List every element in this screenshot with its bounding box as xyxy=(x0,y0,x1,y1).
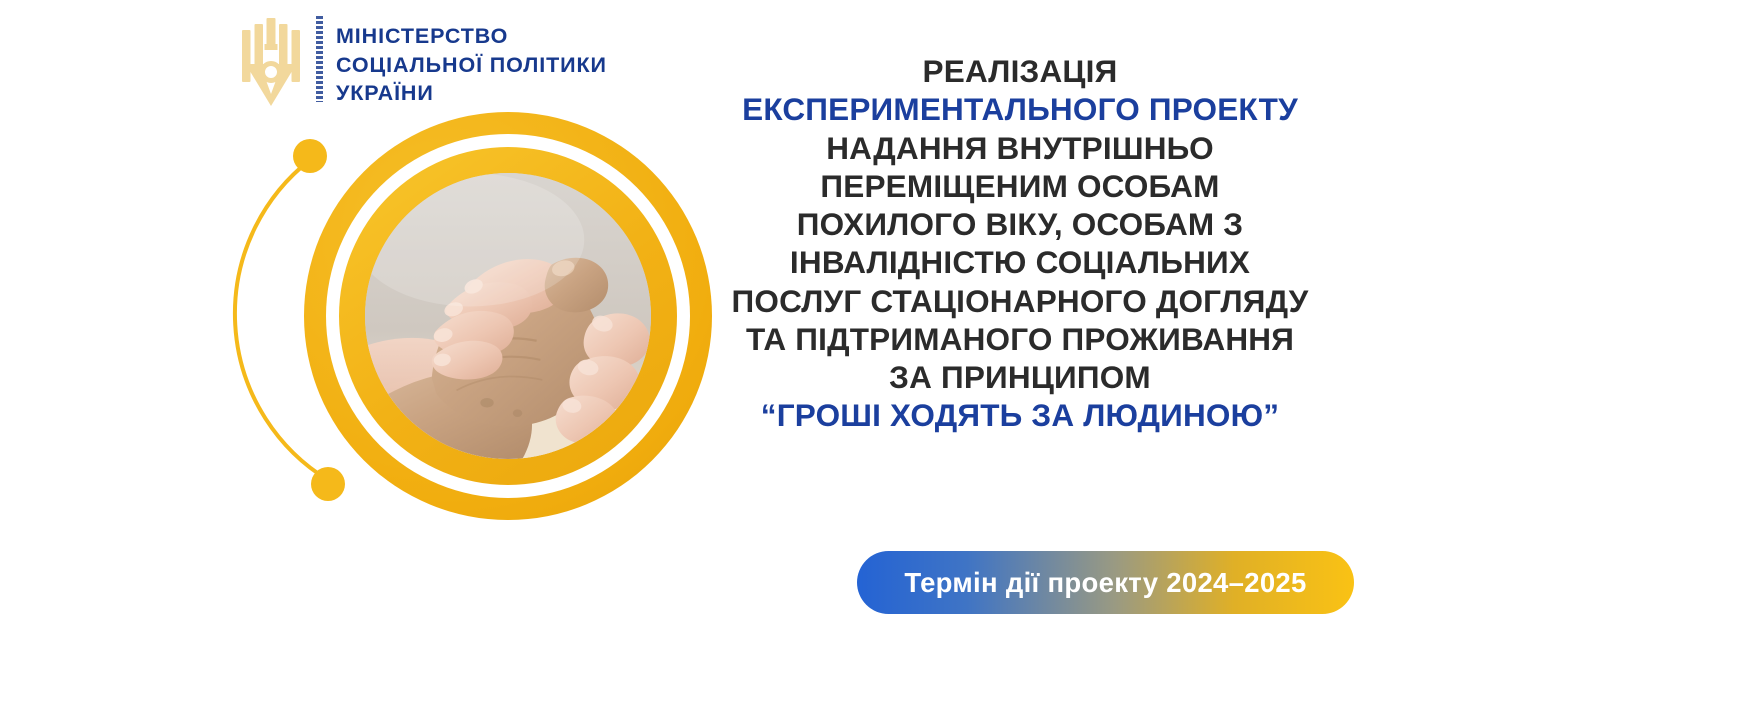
headline-line-6: ІНВАЛІДНІСТЮ СОЦІАЛЬНИХ xyxy=(700,243,1340,281)
project-term-label: Термін дії проекту 2024–2025 xyxy=(904,567,1306,599)
ukraine-trident-icon xyxy=(238,14,304,106)
outer-ring xyxy=(304,112,712,520)
headline-line-9: ЗА ПРИНЦИПОМ xyxy=(700,358,1340,396)
headline-line-5: ПОХИЛОГО ВІКУ, ОСОБАМ З xyxy=(700,205,1340,243)
headline-line-7: ПОСЛУГ СТАЦІОНАРНОГО ДОГЛЯДУ xyxy=(700,282,1340,320)
decorative-dot-icon xyxy=(311,467,345,501)
headline-line-3: НАДАННЯ ВНУТРІШНЬО xyxy=(700,129,1340,167)
headline-line-10: “ГРОШІ ХОДЯТЬ ЗА ЛЮДИНОЮ” xyxy=(700,396,1340,434)
circular-photo-graphic xyxy=(262,112,712,532)
ministry-logo-line-3: УКРАЇНИ xyxy=(336,79,607,108)
ministry-logo: МІНІСТЕРСТВО СОЦІАЛЬНОЇ ПОЛІТИКИ УКРАЇНИ xyxy=(238,14,607,108)
headline-line-4: ПЕРЕМІЩЕНИМ ОСОБАМ xyxy=(700,167,1340,205)
dotted-divider-icon xyxy=(316,16,323,102)
ministry-logo-line-1: МІНІСТЕРСТВО xyxy=(336,22,607,51)
inner-ring xyxy=(339,147,677,485)
project-term-badge: Термін дії проекту 2024–2025 xyxy=(857,551,1354,614)
decorative-dot-icon xyxy=(293,139,327,173)
headline-line-8: ТА ПІДТРИМАНОГО ПРОЖИВАННЯ xyxy=(700,320,1340,358)
headline-block: РЕАЛІЗАЦІЯ ЕКСПЕРИМЕНТАЛЬНОГО ПРОЕКТУ НА… xyxy=(700,52,1340,435)
headline-line-2: ЕКСПЕРИМЕНТАЛЬНОГО ПРОЕКТУ xyxy=(700,90,1340,128)
ring-gap xyxy=(326,134,690,498)
ministry-logo-line-2: СОЦІАЛЬНОЇ ПОЛІТИКИ xyxy=(336,51,607,80)
headline-line-1: РЕАЛІЗАЦІЯ xyxy=(700,52,1340,90)
ministry-logo-text: МІНІСТЕРСТВО СОЦІАЛЬНОЇ ПОЛІТИКИ УКРАЇНИ xyxy=(336,22,607,108)
clasped-hands-photo xyxy=(365,173,651,459)
promo-banner: МІНІСТЕРСТВО СОЦІАЛЬНОЇ ПОЛІТИКИ УКРАЇНИ xyxy=(0,0,1764,716)
